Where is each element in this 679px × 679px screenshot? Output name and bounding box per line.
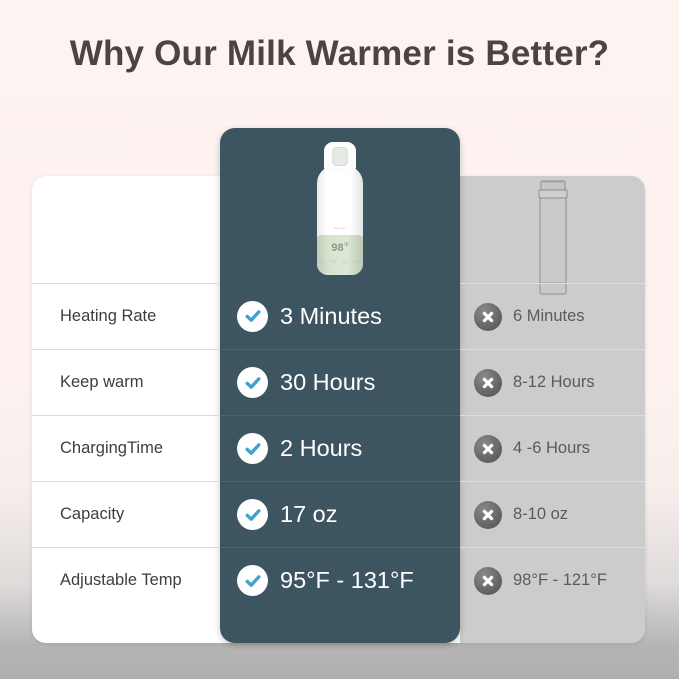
check-circle-icon (237, 499, 268, 530)
comparison-infographic: Why Our Milk Warmer is Better? warmer 98… (0, 0, 679, 679)
competitor-value-cell: 4 -6 Hours (460, 415, 645, 481)
bottle-temperature-readout: 98°F (315, 242, 365, 254)
competitor-value-text: 98°F - 121°F (513, 571, 607, 590)
own-value-cell: 95°F - 131°F (220, 547, 460, 613)
table-row: ChargingTime 2 Hours 4 -6 Hours (32, 415, 645, 481)
cross-circle-icon (474, 567, 502, 595)
own-value-text: 2 Hours (280, 435, 362, 462)
table-row: Capacity 17 oz 8-10 oz (32, 481, 645, 547)
competitor-value-text: 6 Minutes (513, 307, 585, 326)
cross-circle-icon (474, 435, 502, 463)
bottle-brand-text: warmer (315, 226, 365, 230)
table-row: Adjustable Temp 95°F - 131°F 98°F - 121°… (32, 547, 645, 613)
competitor-value-text: 8-12 Hours (513, 373, 595, 392)
competitor-value-text: 8-10 oz (513, 505, 568, 524)
cross-circle-icon (474, 303, 502, 331)
check-circle-icon (237, 301, 268, 332)
competitor-value-cell: 6 Minutes (460, 283, 645, 349)
check-circle-icon (237, 367, 268, 398)
cross-circle-icon (474, 501, 502, 529)
competitor-value-cell: 8-10 oz (460, 481, 645, 547)
bottle-cap (324, 142, 356, 172)
table-row: Heating Rate 3 Minutes 6 Minutes (32, 283, 645, 349)
comparison-table: Heating Rate 3 Minutes 6 Minutes Keep wa… (32, 283, 645, 613)
own-value-text: 30 Hours (280, 369, 375, 396)
own-value-text: 95°F - 131°F (280, 567, 414, 594)
own-value-cell: 2 Hours (220, 415, 460, 481)
own-product-image: warmer 98°F ▭ ▭ ▭ ▭ (220, 128, 460, 283)
feature-label: Capacity (32, 481, 220, 547)
table-row: Keep warm 30 Hours 8-12 Hours (32, 349, 645, 415)
own-value-cell: 30 Hours (220, 349, 460, 415)
bottle-temp-value: 98 (331, 242, 343, 254)
feature-label: Heating Rate (32, 283, 220, 349)
feature-label: ChargingTime (32, 415, 220, 481)
cross-circle-icon (474, 369, 502, 397)
own-value-cell: 17 oz (220, 481, 460, 547)
bottle-temp-unit: °F (344, 242, 349, 248)
feature-label: Keep warm (32, 349, 220, 415)
own-value-text: 17 oz (280, 501, 338, 528)
bottle-base-display-panel (317, 235, 363, 275)
own-value-cell: 3 Minutes (220, 283, 460, 349)
competitor-value-cell: 8-12 Hours (460, 349, 645, 415)
competitor-product-image (460, 176, 645, 283)
bottle-cap-button (333, 147, 348, 166)
bottle-display-segments: ▭ ▭ ▭ ▭ (315, 258, 365, 265)
page-title: Why Our Milk Warmer is Better? (0, 34, 679, 74)
feature-label: Adjustable Temp (32, 547, 220, 613)
check-circle-icon (237, 565, 268, 596)
own-value-text: 3 Minutes (280, 303, 382, 330)
competitor-value-text: 4 -6 Hours (513, 439, 590, 458)
milk-warmer-bottle-icon: warmer 98°F ▭ ▭ ▭ ▭ (315, 142, 365, 275)
thermos-outline-icon (529, 179, 577, 297)
competitor-value-cell: 98°F - 121°F (460, 547, 645, 613)
check-circle-icon (237, 433, 268, 464)
